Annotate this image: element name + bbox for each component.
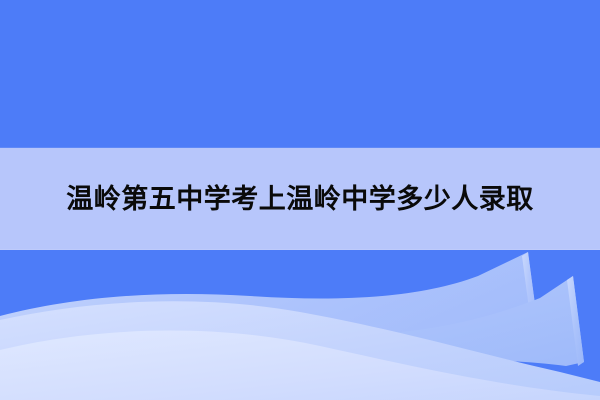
banner-image: 温岭第五中学考上温岭中学多少人录取 [0,0,600,400]
page-title: 温岭第五中学考上温岭中学多少人录取 [66,186,534,213]
bottom-wave-band [0,250,600,400]
wave-decoration-graphic [0,250,600,400]
top-blue-band [0,0,600,148]
title-band: 温岭第五中学考上温岭中学多少人录取 [0,148,600,250]
